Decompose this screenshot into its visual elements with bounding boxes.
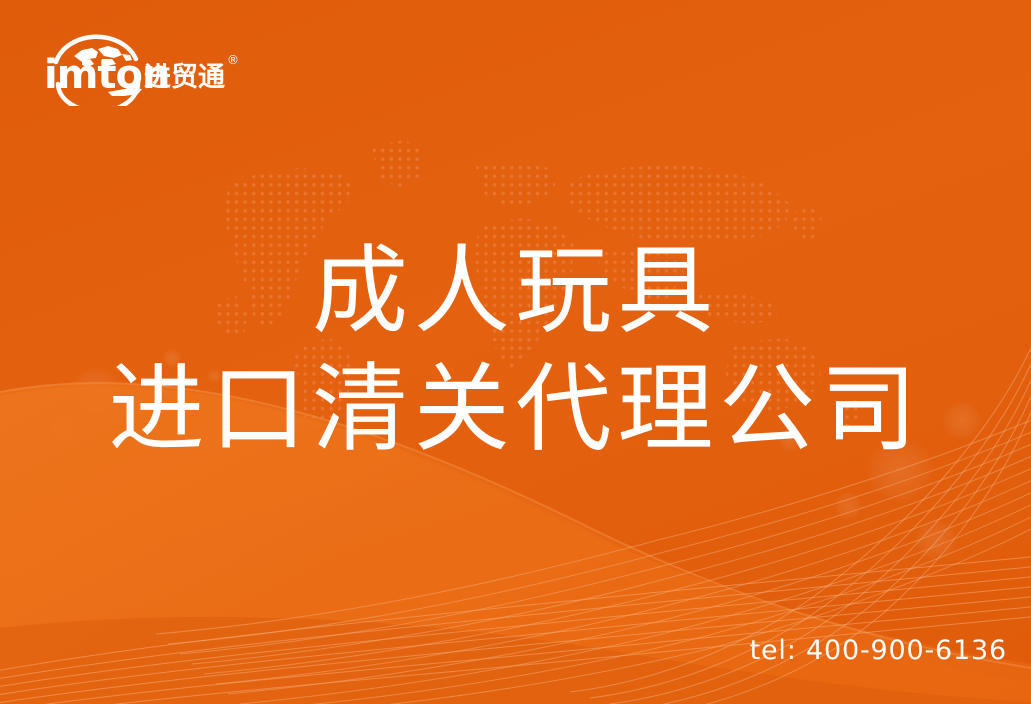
contact-phone[interactable]: tel: 400-900-6136 (750, 635, 1007, 666)
promo-banner: imton 进贸通 ® 成人玩具 进口清关代理公司 tel: 400-900-6… (0, 0, 1031, 704)
trademark-icon: ® (227, 53, 239, 67)
dotted-world-map (190, 130, 890, 450)
logo-chinese-name: 进贸通 (144, 62, 225, 93)
imton-logo-mark: imton 进贸通 ® (38, 26, 268, 106)
imton-logo[interactable]: imton 进贸通 ® (38, 26, 268, 106)
